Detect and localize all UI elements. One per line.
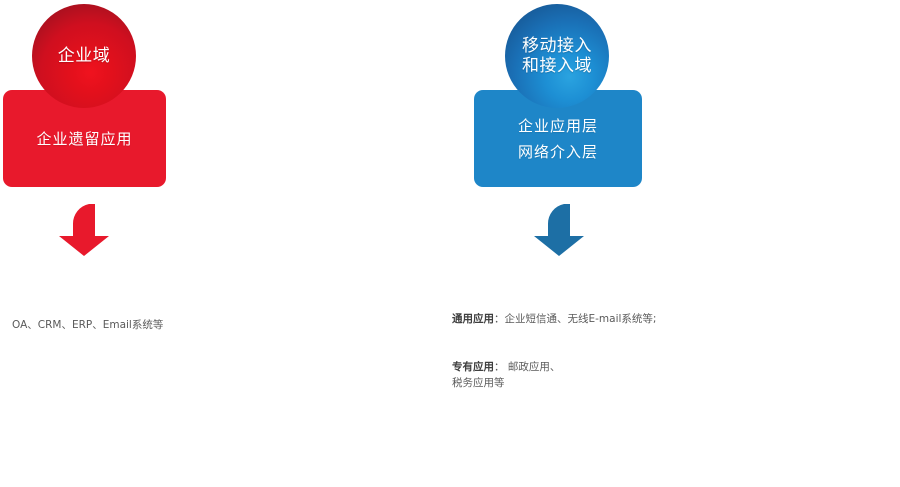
- layer-box-label: 企业遗留应用: [36, 126, 132, 152]
- architecture-diagram: 企业域 企业遗留应用 OA、CRM、ERP、Email系统等 移动接入 和接入域…: [0, 0, 900, 404]
- column-enterprise-domain: 企业域 企业遗留应用 OA、CRM、ERP、Email系统等: [0, 0, 230, 404]
- down-arrow-icon-mobile-access: [530, 200, 588, 262]
- caption-text: OA、CRM、ERP、Email系统等: [12, 319, 163, 331]
- down-arrow-icon-enterprise: [55, 200, 113, 262]
- layer-box-label: 企业应用层 网络介入层: [518, 113, 598, 165]
- domain-circle-mobile-access[interactable]: 移动接入 和接入域: [505, 4, 609, 108]
- domain-circle-label: 企业域: [58, 46, 111, 66]
- caption-enterprise: OA、CRM、ERP、Email系统等: [12, 285, 222, 349]
- column-mobile-access-domain: 移动接入 和接入域 企业应用层 网络介入层 通用应用：企业短信通、无线E-mai…: [230, 0, 465, 404]
- domain-circle-enterprise[interactable]: 企业域: [32, 4, 136, 108]
- column-user-domain: 用户域 用户层 终端用户,包括企业客户、 供应链合作伙伴、企业员工: [700, 0, 900, 404]
- caption-block: OA、CRM、ERP、Email系统等: [12, 301, 222, 333]
- domain-circle-label: 移动接入 和接入域: [522, 36, 592, 76]
